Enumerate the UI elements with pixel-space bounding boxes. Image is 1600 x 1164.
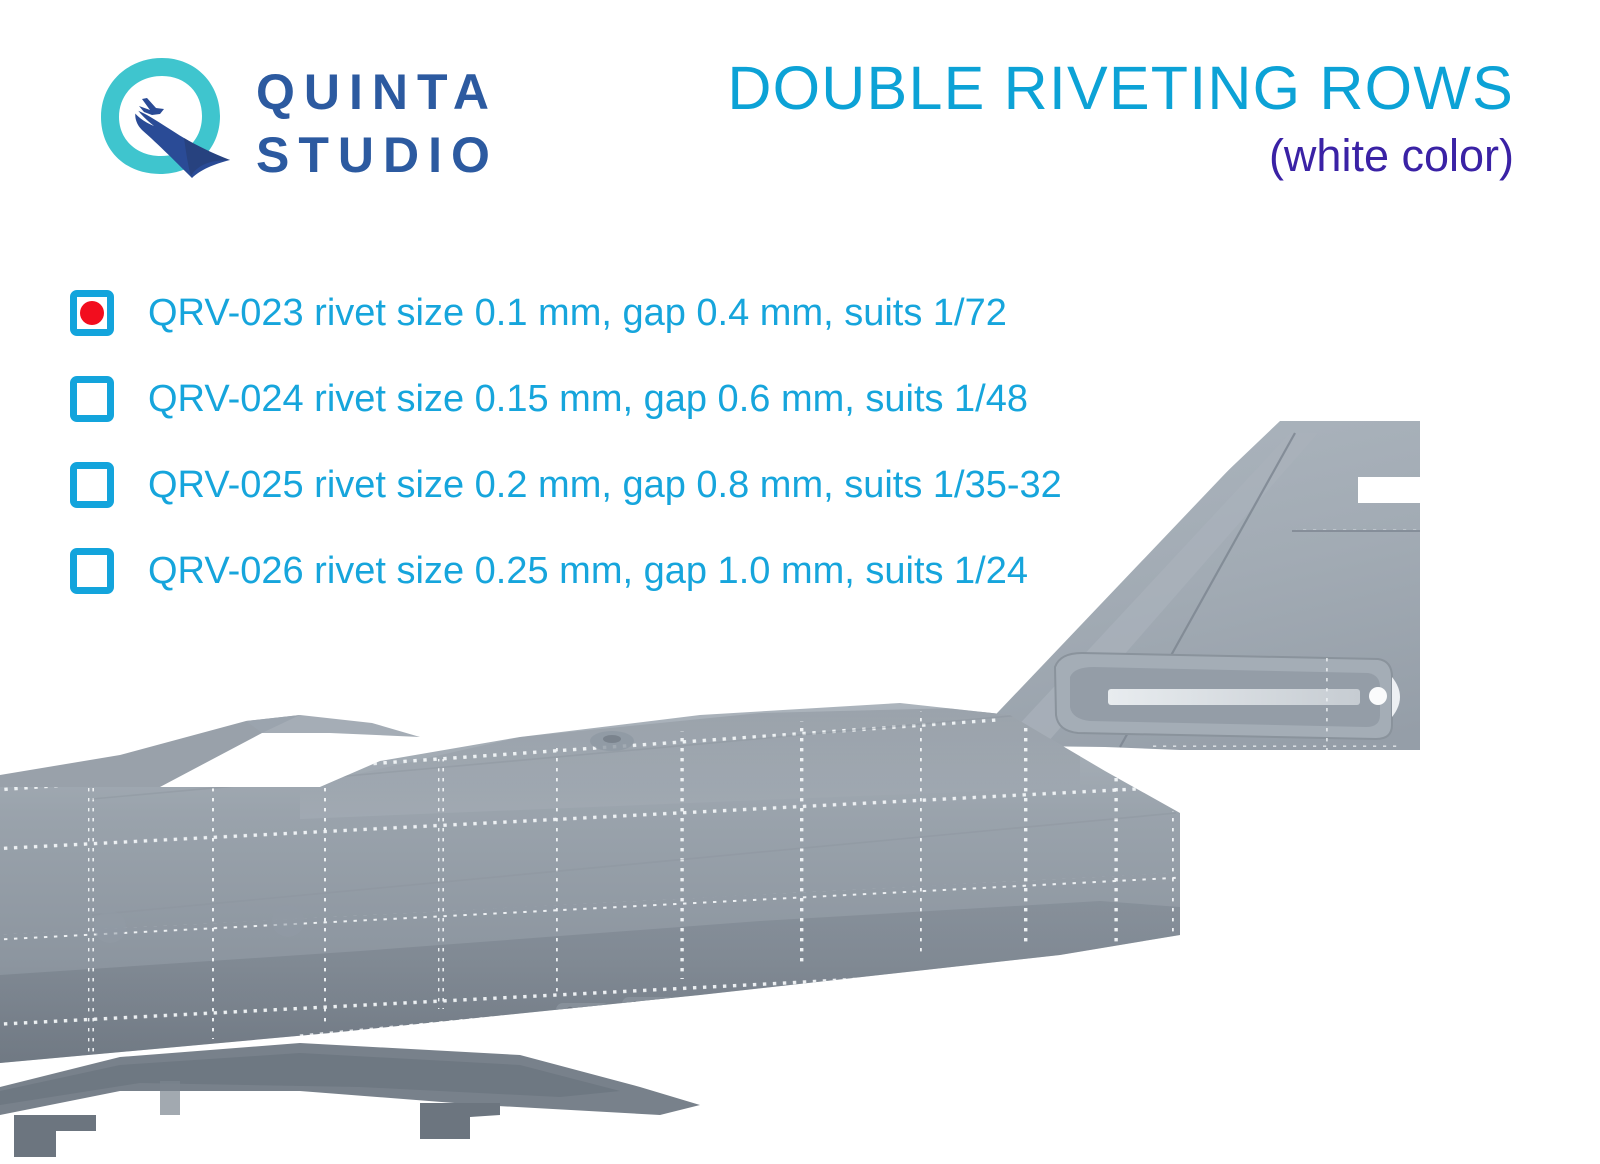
checkbox-qrv-023[interactable] [70,290,114,336]
list-item[interactable]: QRV-023 rivet size 0.1 mm, gap 0.4 mm, s… [70,282,1170,344]
quinta-q-jet-logo-icon [92,52,234,194]
brand-name-line1: QUINTA [256,67,499,117]
page-title: DOUBLE RIVETING ROWS [727,56,1514,120]
horizontal-stabiliser [0,1043,700,1157]
brand-wordmark: QUINTA STUDIO [256,67,499,180]
title-block: DOUBLE RIVETING ROWS (white color) [727,56,1514,179]
page-header: QUINTA STUDIO DOUBLE RIVETING ROWS (whit… [0,0,1600,230]
page-subtitle: (white color) [727,132,1514,179]
list-item-label: QRV-023 rivet size 0.1 mm, gap 0.4 mm, s… [148,292,1007,335]
selected-dot-icon [80,301,104,325]
aircraft-model-photo: <*linearGradient> [0,415,1600,1164]
brand-logo: QUINTA STUDIO [92,52,499,194]
brand-name-line2: STUDIO [256,130,499,180]
